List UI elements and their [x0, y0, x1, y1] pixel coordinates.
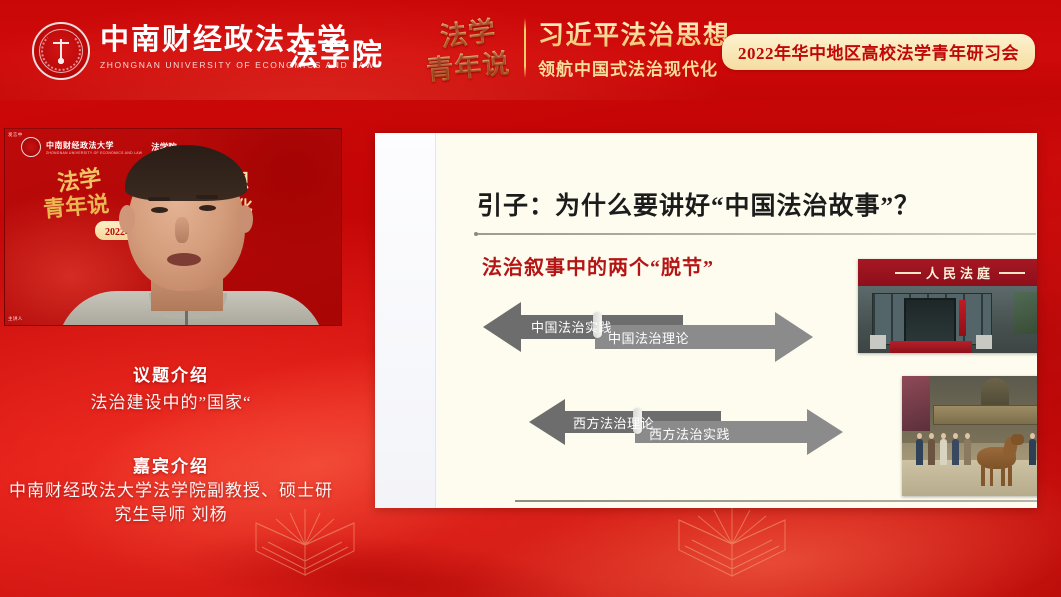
calligraphy-line-2: 青年说 [424, 41, 511, 87]
painting-figure [940, 439, 947, 465]
horse-leg [1008, 466, 1012, 486]
program-calligraphy-logo: 法学 青年说 [424, 12, 520, 88]
horse-leg [990, 466, 994, 486]
speaker-mouth [167, 253, 201, 266]
court-greenery [1014, 292, 1037, 334]
speaker-video-tile[interactable]: 发言中 主讲人 中南财经政法大学 ZHONGNAN UNIVERSITY OF … [4, 128, 342, 326]
speaker-ear-right [237, 205, 253, 233]
presentation-slide[interactable]: 引子：为什么要讲好“中国法治故事”？ 法治叙事中的两个“脱节” 中国法治实践 中… [375, 133, 1037, 508]
broadcast-stage: 中南财经政法大学 ZHONGNAN UNIVERSITY OF ECONOMIC… [0, 0, 1061, 597]
slogan-main: 习近平法治思想 [538, 20, 731, 51]
slide-content-area: 引子：为什么要讲好“中国法治故事”？ 法治叙事中的两个“脱节” 中国法治实践 中… [437, 133, 1037, 508]
painting-judges-bench [933, 405, 1037, 425]
topic-heading: 议题介绍 [2, 361, 340, 386]
speaker-ear-left [119, 205, 135, 233]
slogan-sub: 领航中国式法治现代化 [538, 55, 731, 80]
court-facade [858, 286, 1037, 353]
painting-figure [952, 439, 959, 465]
sign-dash-left [895, 272, 921, 274]
arrow-pair-2: 西方法治理论 西方法治实践 [529, 395, 859, 453]
guest-heading: 嘉宾介绍 [2, 452, 340, 477]
guest-text: 中南财经政法大学法学院副教授、硕士研究生导师 刘杨 [2, 479, 340, 527]
slogan-block: 习近平法治思想 领航中国式法治现代化 [538, 20, 731, 80]
speaker-nose [175, 217, 189, 243]
court-planter-left [870, 335, 886, 349]
slide-bottom-rule [515, 500, 1037, 502]
university-crest-icon [32, 22, 90, 80]
video-corner-tag-bottom: 主讲人 [8, 316, 23, 322]
painting-figure [928, 439, 935, 465]
painting-drape [902, 376, 930, 431]
speaker-hair [125, 145, 247, 201]
speaker-eye-left [151, 207, 168, 213]
speaker-brow-right [196, 195, 218, 199]
horse-head [1011, 434, 1023, 445]
header-banner: 中南财经政法大学 ZHONGNAN UNIVERSITY OF ECONOMIC… [0, 0, 1061, 100]
painting-horse [974, 436, 1026, 486]
slide-left-margin [375, 133, 436, 508]
arrow-pair-1-right-label: 中国法治理论 [608, 328, 689, 347]
court-entrance-door [904, 298, 956, 347]
speaker-figure [97, 143, 283, 326]
painting-figure [916, 439, 923, 465]
speaker-brow-left [148, 197, 170, 201]
court-red-carpet [890, 341, 972, 353]
header-divider [524, 18, 526, 78]
arrow-pair-1-left-label: 中国法治实践 [531, 317, 612, 336]
court-planter-right [976, 335, 992, 349]
speaker-eye-right [199, 205, 216, 211]
western-courtroom-painting [902, 376, 1037, 496]
arrow-pair-2-right-label: 西方法治实践 [649, 424, 730, 443]
court-sign-text: 人民法庭 [926, 263, 994, 282]
horse-leg [1001, 466, 1005, 486]
slide-title: 引子：为什么要讲好“中国法治故事”？ [477, 186, 920, 222]
slide-subtitle: 法治叙事中的两个“脱节” [482, 251, 714, 280]
open-book-icon [672, 500, 792, 591]
horse-leg [981, 466, 985, 486]
sign-dash-right [999, 272, 1025, 274]
arrow-pair-1: 中国法治实践 中国法治理论 [483, 298, 813, 356]
chinese-court-photo: 人民法庭 [858, 259, 1037, 353]
arrow-pair-2-left-label: 西方法治理论 [573, 413, 654, 432]
painting-figure [964, 439, 971, 465]
painting-figure [1029, 439, 1036, 465]
faculty-name: 法学院 [288, 30, 384, 74]
topic-text: 法治建设中的”国家“ [2, 391, 340, 415]
scales-of-justice-icon [51, 37, 71, 65]
painting-arch-decor [981, 378, 1009, 407]
court-sign-band: 人民法庭 [858, 259, 1037, 286]
event-badge: 2022年华中地区高校法学青年研习会 [722, 34, 1035, 70]
slide-title-rule [476, 233, 1036, 235]
video-university-crest-icon [21, 137, 41, 157]
court-red-banner [959, 300, 966, 336]
